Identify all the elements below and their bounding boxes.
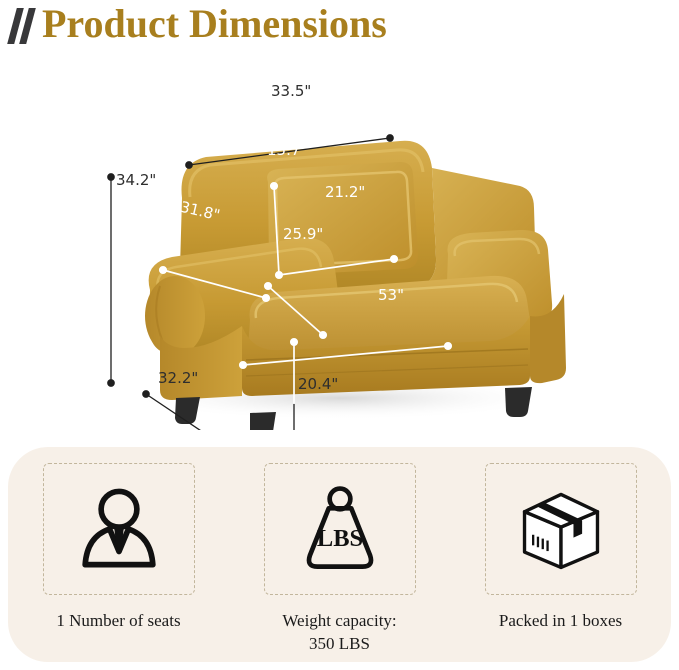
dimension-15-7: 15.7"	[267, 141, 307, 159]
weight-caption: Weight capacity: 350 LBS	[240, 609, 440, 655]
feature-card-weight: LBS Weight capacity: 350 LBS	[264, 463, 416, 655]
person-seat-icon	[72, 482, 166, 576]
feature-card-boxes: Packed in 1 boxes	[485, 463, 637, 632]
product-info-panel: 1 Number of seats LBS Weight capacity: 3…	[8, 447, 671, 662]
dimension-32-2: 32.2"	[158, 369, 198, 387]
weight-icon-box: LBS	[264, 463, 416, 595]
feature-card-seats: 1 Number of seats	[43, 463, 195, 632]
boxes-caption-line1: Packed in 1 boxes	[499, 611, 622, 630]
double-slash-icon	[10, 6, 44, 46]
dimension-53: 53"	[378, 286, 404, 304]
dimension-25-9: 25.9"	[283, 225, 323, 243]
weight-caption-line1: Weight capacity:	[240, 609, 440, 632]
dimension-20-4: 20.4"	[298, 375, 338, 393]
seats-caption: 1 Number of seats	[19, 609, 219, 632]
dimension-21-2: 21.2"	[325, 183, 365, 201]
page-header: Product Dimensions	[0, 0, 679, 58]
seats-caption-line1: 1 Number of seats	[56, 611, 180, 630]
armchair-illustration	[0, 58, 679, 430]
weight-caption-line2: 350 LBS	[240, 632, 440, 655]
dimension-34-2: 34.2"	[116, 171, 156, 189]
page-title: Product Dimensions	[42, 0, 387, 50]
weight-lbs-icon: LBS	[293, 482, 387, 576]
boxes-icon-box	[485, 463, 637, 595]
boxes-caption: Packed in 1 boxes	[461, 609, 661, 632]
package-box-icon	[513, 481, 609, 577]
weight-icon-text: LBS	[316, 525, 362, 552]
seats-icon-box	[43, 463, 195, 595]
product-dimension-diagram: 33.5" 34.2" 15.7" 21.2" 31.8" 25.9" 53" …	[0, 58, 679, 430]
dimension-33-5: 33.5"	[271, 82, 311, 100]
